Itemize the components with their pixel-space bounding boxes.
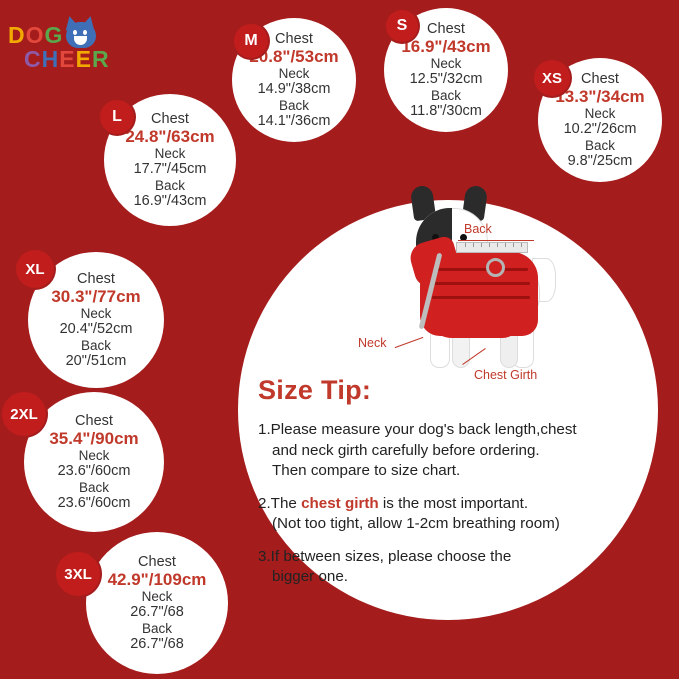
size-bubble-3xl: Chest 42.9"/109cm Neck 26.7"/68 Back 26.… (86, 532, 228, 674)
bubble-3xl-back-value: 26.7"/68 (130, 636, 184, 652)
tip-2-highlight: chest girth (301, 495, 379, 512)
bubble-l-neck-value: 17.7"/45cm (134, 161, 207, 177)
bubble-s-chest-label: Chest (427, 21, 465, 37)
brand-name-line2: CHEER (24, 46, 110, 73)
tip-3-line-2: bigger one. (258, 567, 640, 588)
size-tag-3xl: 3XL (56, 552, 100, 596)
bubble-2xl-neck-label: Neck (79, 448, 110, 463)
size-tag-m: M (234, 24, 268, 58)
bubble-xl-neck-value: 20.4"/52cm (60, 321, 133, 337)
bubble-3xl-chest-value: 42.9"/109cm (108, 570, 207, 589)
bubble-l-neck-label: Neck (155, 146, 186, 161)
bubble-l-back-label: Back (155, 178, 185, 193)
bubble-xl-back-value: 20"/51cm (66, 353, 127, 369)
bubble-m-neck-value: 14.9"/38cm (258, 81, 331, 97)
ruler-icon (456, 242, 528, 253)
bubble-l-chest-label: Chest (151, 111, 189, 127)
size-tag-l: L (100, 100, 134, 134)
label-back: Back (464, 222, 492, 236)
bubble-xl-chest-label: Chest (77, 271, 115, 287)
tip-1-line-1: 1.Please measure your dog's back length,… (258, 421, 577, 438)
bubble-3xl-neck-label: Neck (142, 589, 173, 604)
bubble-3xl-chest-label: Chest (138, 554, 176, 570)
size-chart-poster: DOG CHEER Back Neck (0, 0, 679, 679)
size-tag-xs: XS (534, 60, 570, 96)
bubble-3xl-back-label: Back (142, 621, 172, 636)
dog-head-icon (64, 16, 98, 50)
bubble-xs-neck-value: 10.2"/26cm (564, 121, 637, 137)
bubble-s-chest-value: 16.9"/43cm (401, 37, 490, 56)
bubble-xs-neck-label: Neck (585, 106, 616, 121)
bubble-xs-chest-label: Chest (581, 71, 619, 87)
size-tag-s: S (386, 10, 418, 42)
tip-item-3: 3.If between sizes, please choose the bi… (258, 547, 640, 588)
bubble-xs-back-value: 9.8"/25cm (568, 153, 633, 169)
bubble-2xl-back-label: Back (79, 480, 109, 495)
bubble-xl-neck-label: Neck (81, 306, 112, 321)
bubble-s-back-label: Back (431, 88, 461, 103)
bubble-s-back-value: 11.8"/30cm (410, 103, 482, 119)
tip-item-1: 1.Please measure your dog's back length,… (258, 420, 640, 482)
bubble-xl-back-label: Back (81, 338, 111, 353)
bubble-s-neck-label: Neck (431, 56, 462, 71)
tip-1-line-3: Then compare to size chart. (258, 461, 640, 482)
tip-3-line-1: 3.If between sizes, please choose the (258, 548, 511, 565)
bubble-m-back-value: 14.1"/36cm (258, 113, 331, 129)
bubble-l-back-value: 16.9"/43cm (134, 193, 207, 209)
tip-item-2: 2.The chest girth is the most important.… (258, 494, 640, 535)
bubble-2xl-back-value: 23.6"/60cm (58, 495, 131, 511)
bubble-xl-chest-value: 30.3"/77cm (51, 287, 140, 306)
bubble-m-chest-label: Chest (275, 31, 313, 47)
bubble-2xl-chest-label: Chest (75, 413, 113, 429)
bubble-xs-chest-value: 13.3"/34cm (555, 87, 644, 106)
bubble-m-neck-label: Neck (279, 66, 310, 81)
size-tag-xl: XL (16, 250, 54, 288)
bubble-xs-back-label: Back (585, 138, 615, 153)
brand-logo: DOG CHEER (8, 22, 128, 84)
tip-2-prefix: 2.The (258, 495, 301, 512)
brand-name-line1: DOG (8, 22, 63, 49)
tip-2-line-2: (Not too tight, allow 1-2cm breathing ro… (258, 514, 640, 535)
bubble-3xl-neck-value: 26.7"/68 (130, 604, 184, 620)
bubble-s-neck-value: 12.5"/32cm (410, 71, 483, 87)
tip-1-line-2: and neck girth carefully before ordering… (258, 441, 640, 462)
size-tip-title: Size Tip: (258, 375, 640, 406)
bubble-2xl-neck-value: 23.6"/60cm (58, 463, 131, 479)
bubble-m-back-label: Back (279, 98, 309, 113)
size-tip-panel: Size Tip: 1.Please measure your dog's ba… (258, 375, 640, 600)
size-tag-2xl: 2XL (2, 392, 46, 436)
label-neck: Neck (358, 336, 386, 350)
bubble-2xl-chest-value: 35.4"/90cm (49, 429, 138, 448)
bubble-l-chest-value: 24.8"/63cm (125, 127, 214, 146)
product-photo: Back Neck Chest Girth (340, 196, 640, 396)
tip-2-suffix: is the most important. (379, 495, 528, 512)
leash-ring (486, 258, 505, 277)
